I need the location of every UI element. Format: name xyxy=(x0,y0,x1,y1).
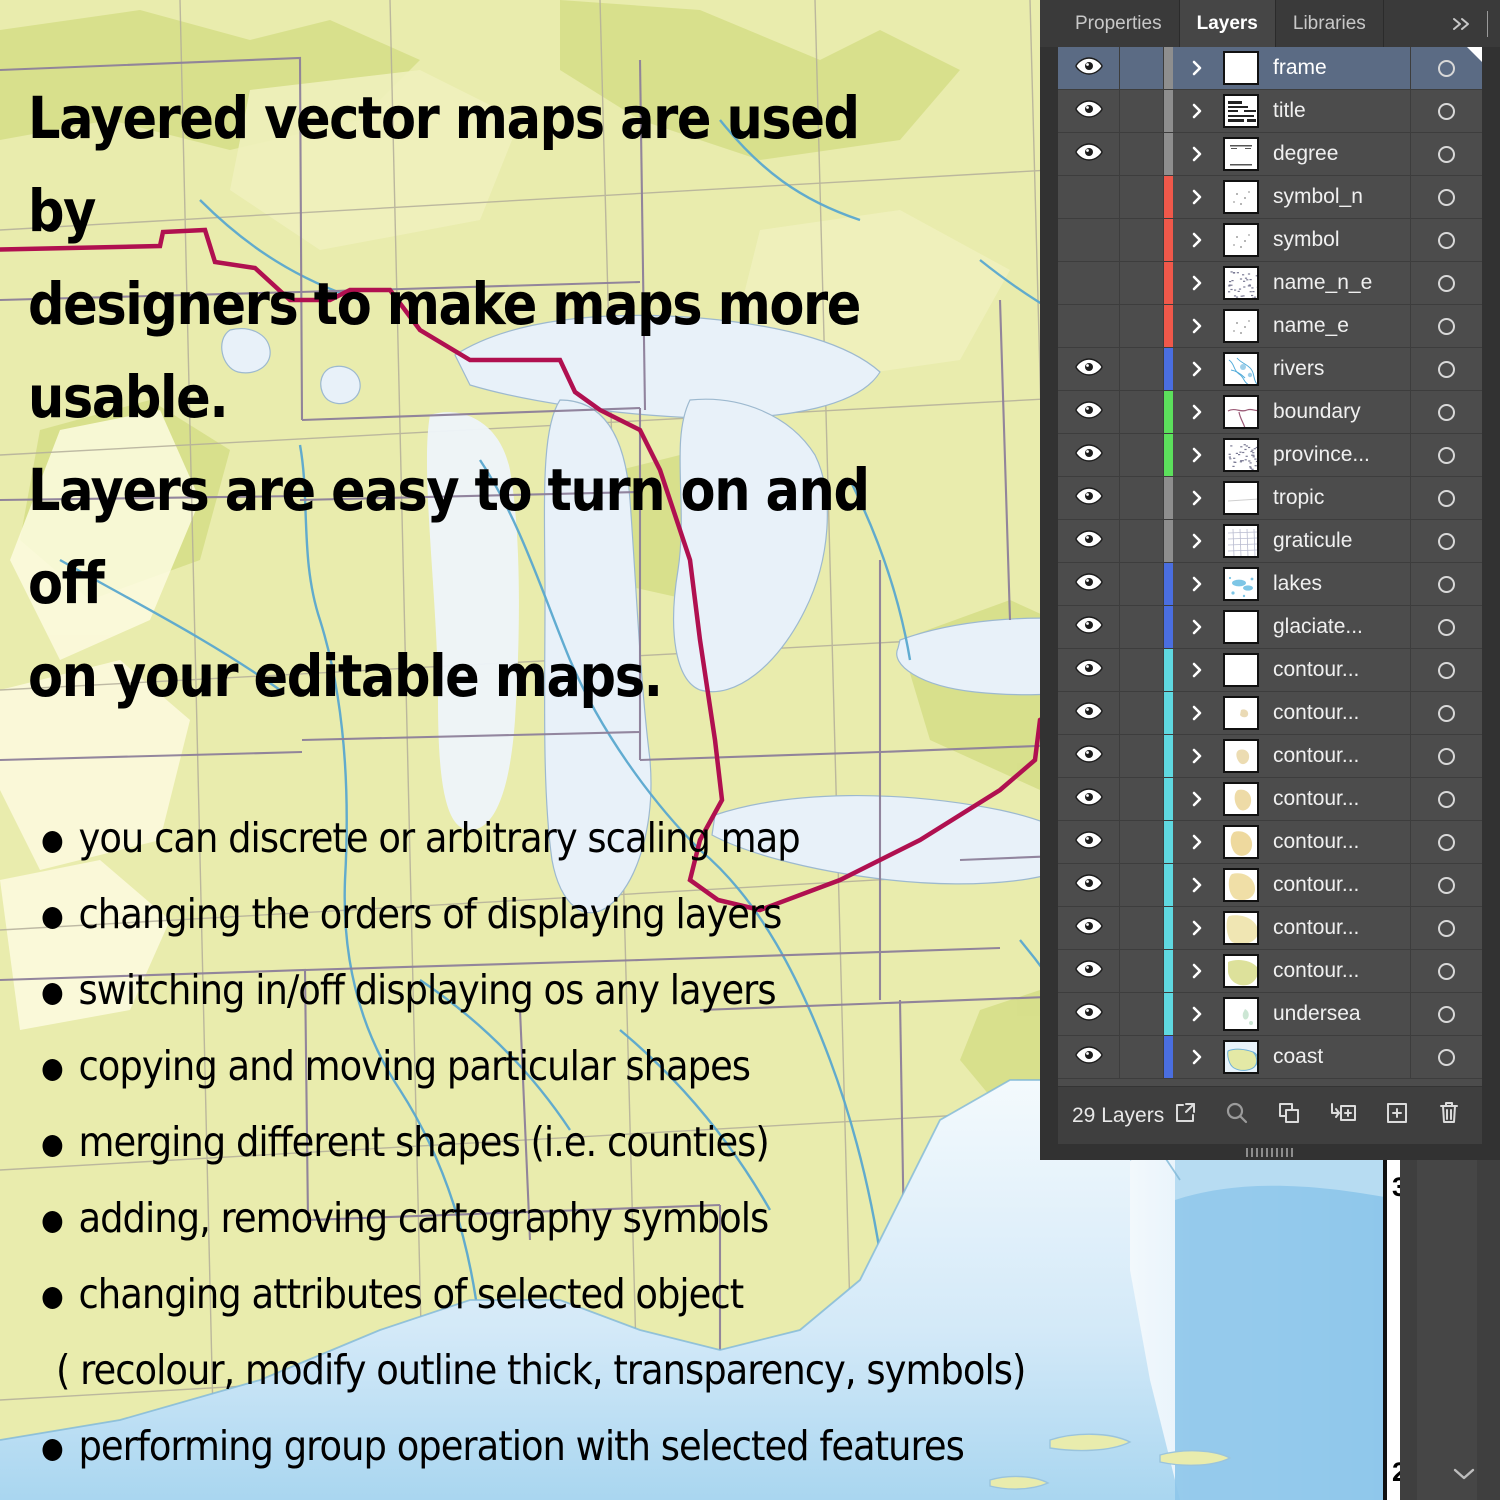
layer-target-circle[interactable] xyxy=(1410,778,1482,820)
layer-row-contour[interactable]: contour... xyxy=(1058,950,1482,993)
layer-name-label: name_n_e xyxy=(1261,271,1410,295)
layer-lock-toggle[interactable] xyxy=(1120,649,1164,691)
bullet-item: changing the orders of displaying layers xyxy=(38,876,1046,952)
chevron-right-icon[interactable] xyxy=(1173,305,1221,347)
layer-row-coast[interactable]: coast xyxy=(1058,1036,1482,1079)
layer-color-strip xyxy=(1164,821,1173,863)
layer-visibility-toggle[interactable] xyxy=(1058,950,1120,992)
chevron-right-icon[interactable] xyxy=(1173,391,1221,433)
layer-row-title[interactable]: title xyxy=(1058,90,1482,133)
chevron-right-icon[interactable] xyxy=(1173,47,1221,89)
layer-color-strip xyxy=(1164,47,1173,89)
layer-visibility-toggle[interactable] xyxy=(1058,864,1120,906)
layer-color-strip xyxy=(1164,219,1173,261)
layer-target-circle[interactable] xyxy=(1410,305,1482,347)
layer-lock-toggle[interactable] xyxy=(1120,821,1164,863)
layer-color-strip xyxy=(1164,692,1173,734)
visibility-eye-icon[interactable] xyxy=(1075,444,1103,467)
layer-name-label: name_e xyxy=(1261,314,1410,338)
layer-thumbnail[interactable] xyxy=(1221,180,1261,214)
duplicate-layer-icon[interactable] xyxy=(1276,1100,1302,1131)
layer-visibility-toggle[interactable] xyxy=(1058,434,1120,476)
layer-visibility-toggle[interactable] xyxy=(1058,219,1120,261)
layer-row-glaciate[interactable]: glaciate... xyxy=(1058,606,1482,649)
chevron-right-icon[interactable] xyxy=(1173,692,1221,734)
layer-thumbnail[interactable] xyxy=(1221,825,1261,859)
layer-lock-toggle[interactable] xyxy=(1120,219,1164,261)
layer-color-strip xyxy=(1164,391,1173,433)
layer-color-strip xyxy=(1164,520,1173,562)
chevron-right-icon[interactable] xyxy=(1173,563,1221,605)
layer-name-label: province... xyxy=(1261,443,1410,467)
chevron-right-icon[interactable] xyxy=(1173,262,1221,304)
bullet-item: performing group operation with selected… xyxy=(38,1408,1046,1484)
layer-color-strip xyxy=(1164,864,1173,906)
locate-object-icon[interactable] xyxy=(1172,1100,1198,1131)
chevron-right-icon[interactable] xyxy=(1173,434,1221,476)
layer-target-circle[interactable] xyxy=(1410,434,1482,476)
layer-lock-toggle[interactable] xyxy=(1120,1036,1164,1078)
layer-target-circle[interactable] xyxy=(1410,692,1482,734)
layer-target-circle[interactable] xyxy=(1410,262,1482,304)
layer-target-circle[interactable] xyxy=(1410,477,1482,519)
chevron-right-icon[interactable] xyxy=(1173,735,1221,777)
layer-name-label: glaciate... xyxy=(1261,615,1410,639)
layer-name-label: symbol xyxy=(1261,228,1410,252)
layer-name-label: contour... xyxy=(1261,830,1410,854)
double-chevron-right-icon[interactable] xyxy=(1437,0,1487,47)
chevron-right-icon[interactable] xyxy=(1173,176,1221,218)
layer-color-strip xyxy=(1164,950,1173,992)
layer-name-label: frame xyxy=(1261,56,1410,80)
layer-count-label: 29 Layers xyxy=(1072,1104,1164,1128)
headline-text: Layered vector maps are used by designer… xyxy=(28,72,917,723)
layer-visibility-toggle[interactable] xyxy=(1058,90,1120,132)
chevron-right-icon[interactable] xyxy=(1173,993,1221,1035)
layer-row-contour[interactable]: contour... xyxy=(1058,864,1482,907)
layer-target-circle[interactable] xyxy=(1410,864,1482,906)
layer-target-circle[interactable] xyxy=(1410,176,1482,218)
new-sublayer-icon[interactable] xyxy=(1328,1100,1358,1131)
visibility-eye-icon[interactable] xyxy=(1075,143,1103,166)
layer-thumbnail[interactable] xyxy=(1221,94,1261,128)
layer-target-circle[interactable] xyxy=(1410,133,1482,175)
layer-target-circle[interactable] xyxy=(1410,520,1482,562)
layer-name-label: degree xyxy=(1261,142,1410,166)
layer-color-strip xyxy=(1164,434,1173,476)
layer-visibility-toggle[interactable] xyxy=(1058,649,1120,691)
visibility-eye-icon[interactable] xyxy=(1075,745,1103,768)
layer-target-circle[interactable] xyxy=(1410,950,1482,992)
layer-target-circle[interactable] xyxy=(1410,993,1482,1035)
new-layer-icon[interactable] xyxy=(1384,1100,1410,1131)
layer-color-strip xyxy=(1164,262,1173,304)
layer-lock-toggle[interactable] xyxy=(1120,262,1164,304)
layer-target-circle[interactable] xyxy=(1410,907,1482,949)
delete-layer-icon[interactable] xyxy=(1436,1100,1462,1131)
layer-visibility-toggle[interactable] xyxy=(1058,477,1120,519)
layer-name-label: contour... xyxy=(1261,658,1410,682)
layer-lock-toggle[interactable] xyxy=(1120,305,1164,347)
layer-visibility-toggle[interactable] xyxy=(1058,606,1120,648)
visibility-eye-icon[interactable] xyxy=(1075,358,1103,381)
layer-visibility-toggle[interactable] xyxy=(1058,47,1120,89)
layer-visibility-toggle[interactable] xyxy=(1058,692,1120,734)
layer-lock-toggle[interactable] xyxy=(1120,778,1164,820)
layer-visibility-toggle[interactable] xyxy=(1058,735,1120,777)
layer-target-circle[interactable] xyxy=(1410,1036,1482,1078)
visibility-eye-icon[interactable] xyxy=(1075,401,1103,424)
layer-target-circle[interactable] xyxy=(1410,563,1482,605)
layer-row-name_e[interactable]: name_e xyxy=(1058,305,1482,348)
layer-row-tropic[interactable]: tropic xyxy=(1058,477,1482,520)
chevron-right-icon[interactable] xyxy=(1173,348,1221,390)
layer-thumbnail[interactable] xyxy=(1221,997,1261,1031)
layer-thumbnail[interactable] xyxy=(1221,223,1261,257)
visibility-eye-icon[interactable] xyxy=(1075,659,1103,682)
layer-row-symbol[interactable]: symbol xyxy=(1058,219,1482,262)
tab-libraries-label: Libraries xyxy=(1293,13,1366,35)
bullet-item: ( recolour, modify outline thick, transp… xyxy=(38,1332,1046,1408)
layer-color-strip xyxy=(1164,176,1173,218)
layer-lock-toggle[interactable] xyxy=(1120,348,1164,390)
latitude-label-25: 25 xyxy=(1392,1457,1400,1488)
layer-name-label: graticule xyxy=(1261,529,1410,553)
chevron-right-icon[interactable] xyxy=(1173,606,1221,648)
bullet-item: switching in/off displaying os any layer… xyxy=(38,952,1046,1028)
bullet-item: you can discrete or arbitrary scaling ma… xyxy=(38,800,1046,876)
layers-panel[interactable]: Properties Layers Libraries frametitlede… xyxy=(1040,0,1500,1160)
layer-visibility-toggle[interactable] xyxy=(1058,133,1120,175)
layer-name-label: lakes xyxy=(1261,572,1410,596)
layer-target-circle[interactable] xyxy=(1410,606,1482,648)
bullet-item: copying and moving particular shapes xyxy=(38,1028,1046,1104)
layer-row-contour[interactable]: contour... xyxy=(1058,821,1482,864)
chevron-right-icon[interactable] xyxy=(1173,907,1221,949)
layer-lock-toggle[interactable] xyxy=(1120,864,1164,906)
layer-thumbnail[interactable] xyxy=(1221,610,1261,644)
layer-lock-toggle[interactable] xyxy=(1120,90,1164,132)
chevron-right-icon[interactable] xyxy=(1173,950,1221,992)
layer-color-strip xyxy=(1164,649,1173,691)
visibility-eye-icon[interactable] xyxy=(1075,788,1103,811)
layer-thumbnail[interactable] xyxy=(1221,266,1261,300)
visibility-eye-icon[interactable] xyxy=(1075,487,1103,510)
layer-lock-toggle[interactable] xyxy=(1120,391,1164,433)
visibility-eye-icon[interactable] xyxy=(1075,573,1103,596)
visibility-eye-icon[interactable] xyxy=(1075,917,1103,940)
layer-thumbnail[interactable] xyxy=(1221,51,1261,85)
visibility-eye-icon[interactable] xyxy=(1075,100,1103,123)
layer-color-strip xyxy=(1164,907,1173,949)
layer-color-strip xyxy=(1164,778,1173,820)
layers-panel-footer[interactable]: 29 Layers xyxy=(1058,1086,1482,1144)
bullet-item: merging different shapes (i.e. counties) xyxy=(38,1104,1046,1180)
layer-thumbnail[interactable] xyxy=(1221,696,1261,730)
layer-target-circle[interactable] xyxy=(1410,821,1482,863)
bullet-item: adding, removing cartography symbols xyxy=(38,1180,1046,1256)
layer-name-label: contour... xyxy=(1261,873,1410,897)
layer-name-label: tropic xyxy=(1261,486,1410,510)
chevron-right-icon[interactable] xyxy=(1173,520,1221,562)
visibility-eye-icon[interactable] xyxy=(1075,530,1103,553)
layer-name-label: title xyxy=(1261,99,1410,123)
latitude-label-30: 30 xyxy=(1392,1172,1400,1203)
chevron-down-icon[interactable] xyxy=(1450,1465,1478,1488)
layer-name-label: contour... xyxy=(1261,701,1410,725)
layer-name-label: contour... xyxy=(1261,916,1410,940)
layer-row-symbol_n[interactable]: symbol_n xyxy=(1058,176,1482,219)
layer-thumbnail[interactable] xyxy=(1221,911,1261,945)
selection-corner-marker xyxy=(1467,47,1482,62)
layer-visibility-toggle[interactable] xyxy=(1058,520,1120,562)
layer-name-label: contour... xyxy=(1261,744,1410,768)
layer-name-label: rivers xyxy=(1261,357,1410,381)
layer-row-frame[interactable]: frame xyxy=(1058,47,1482,90)
layer-visibility-toggle[interactable] xyxy=(1058,907,1120,949)
layer-visibility-toggle[interactable] xyxy=(1058,778,1120,820)
layer-thumbnail[interactable] xyxy=(1221,524,1261,558)
layer-target-circle[interactable] xyxy=(1410,348,1482,390)
layer-thumbnail[interactable] xyxy=(1221,567,1261,601)
layer-target-circle[interactable] xyxy=(1410,90,1482,132)
layer-visibility-toggle[interactable] xyxy=(1058,821,1120,863)
layer-lock-toggle[interactable] xyxy=(1120,520,1164,562)
chevron-right-icon[interactable] xyxy=(1173,90,1221,132)
layer-thumbnail[interactable] xyxy=(1221,782,1261,816)
tab-libraries[interactable]: Libraries xyxy=(1276,0,1384,47)
layer-thumbnail[interactable] xyxy=(1221,739,1261,773)
layer-lock-toggle[interactable] xyxy=(1120,434,1164,476)
layer-lock-toggle[interactable] xyxy=(1120,950,1164,992)
layer-thumbnail[interactable] xyxy=(1221,481,1261,515)
chevron-right-icon[interactable] xyxy=(1173,1036,1221,1078)
screenshot-root: 30 25 Layered vector maps are used by de… xyxy=(0,0,1500,1500)
layer-lock-toggle[interactable] xyxy=(1120,606,1164,648)
layer-thumbnail[interactable] xyxy=(1221,137,1261,171)
layer-lock-toggle[interactable] xyxy=(1120,563,1164,605)
layer-visibility-toggle[interactable] xyxy=(1058,1036,1120,1078)
tab-bar-divider xyxy=(1487,11,1488,37)
chevron-right-icon[interactable] xyxy=(1173,133,1221,175)
layer-thumbnail[interactable] xyxy=(1221,309,1261,343)
tab-layers[interactable]: Layers xyxy=(1180,0,1276,47)
layer-target-circle[interactable] xyxy=(1410,649,1482,691)
panel-tab-bar[interactable]: Properties Layers Libraries xyxy=(1040,0,1500,47)
layer-color-strip xyxy=(1164,90,1173,132)
layer-name-label: contour... xyxy=(1261,787,1410,811)
layer-row-contour[interactable]: contour... xyxy=(1058,735,1482,778)
layer-visibility-toggle[interactable] xyxy=(1058,262,1120,304)
visibility-eye-icon[interactable] xyxy=(1075,616,1103,639)
layer-visibility-toggle[interactable] xyxy=(1058,391,1120,433)
tab-properties[interactable]: Properties xyxy=(1058,0,1180,47)
layer-visibility-toggle[interactable] xyxy=(1058,993,1120,1035)
chevron-right-icon[interactable] xyxy=(1173,477,1221,519)
layer-lock-toggle[interactable] xyxy=(1120,907,1164,949)
visibility-eye-icon[interactable] xyxy=(1075,57,1103,80)
layer-color-strip xyxy=(1164,563,1173,605)
panel-resize-grip[interactable] xyxy=(1040,1144,1500,1160)
layer-visibility-toggle[interactable] xyxy=(1058,305,1120,347)
visibility-eye-icon[interactable] xyxy=(1075,702,1103,725)
workspace-right-gutter-inner xyxy=(1417,1160,1477,1500)
layer-thumbnail[interactable] xyxy=(1221,438,1261,472)
tab-layers-label: Layers xyxy=(1197,13,1258,35)
layer-name-label: coast xyxy=(1261,1045,1410,1069)
layer-row-contour[interactable]: contour... xyxy=(1058,692,1482,735)
layer-row-name_n_e[interactable]: name_n_e xyxy=(1058,262,1482,305)
grip-lines-icon xyxy=(1246,1148,1294,1157)
bullet-item: changing attributes of selected object xyxy=(38,1256,1046,1332)
visibility-eye-icon[interactable] xyxy=(1075,874,1103,897)
layer-row-graticule[interactable]: graticule xyxy=(1058,520,1482,563)
chevron-right-icon[interactable] xyxy=(1173,219,1221,261)
layer-color-strip xyxy=(1164,606,1173,648)
layer-color-strip xyxy=(1164,735,1173,777)
layer-row-contour[interactable]: contour... xyxy=(1058,907,1482,950)
layer-color-strip xyxy=(1164,305,1173,347)
visibility-eye-icon[interactable] xyxy=(1075,1003,1103,1026)
layer-row-province[interactable]: province... xyxy=(1058,434,1482,477)
layer-footer-actions[interactable] xyxy=(1172,1100,1468,1131)
layer-name-label: contour... xyxy=(1261,959,1410,983)
layer-target-circle[interactable] xyxy=(1410,219,1482,261)
layer-visibility-toggle[interactable] xyxy=(1058,563,1120,605)
chevron-right-icon[interactable] xyxy=(1173,864,1221,906)
layer-row-lakes[interactable]: lakes xyxy=(1058,563,1482,606)
layer-list[interactable]: frametitledegreesymbol_nsymbolname_n_ena… xyxy=(1058,47,1482,1086)
layer-color-strip xyxy=(1164,477,1173,519)
layer-row-boundary[interactable]: boundary xyxy=(1058,391,1482,434)
layer-lock-toggle[interactable] xyxy=(1120,735,1164,777)
layer-name-label: boundary xyxy=(1261,400,1410,424)
layer-name-label: undersea xyxy=(1261,1002,1410,1026)
chevron-right-icon[interactable] xyxy=(1173,778,1221,820)
layer-row-contour[interactable]: contour... xyxy=(1058,778,1482,821)
chevron-right-icon[interactable] xyxy=(1173,649,1221,691)
visibility-eye-icon[interactable] xyxy=(1075,831,1103,854)
layer-thumbnail[interactable] xyxy=(1221,868,1261,902)
visibility-eye-icon[interactable] xyxy=(1075,960,1103,983)
layer-color-strip xyxy=(1164,348,1173,390)
layer-color-strip xyxy=(1164,993,1173,1035)
layer-target-circle[interactable] xyxy=(1410,391,1482,433)
feature-bullet-list: you can discrete or arbitrary scaling ma… xyxy=(38,800,1158,1484)
layer-row-undersea[interactable]: undersea xyxy=(1058,993,1482,1036)
tab-properties-label: Properties xyxy=(1075,13,1162,35)
layer-lock-toggle[interactable] xyxy=(1120,692,1164,734)
visibility-eye-icon[interactable] xyxy=(1075,1046,1103,1069)
layer-visibility-toggle[interactable] xyxy=(1058,348,1120,390)
layer-lock-toggle[interactable] xyxy=(1120,47,1164,89)
layer-thumbnail[interactable] xyxy=(1221,954,1261,988)
chevron-right-icon[interactable] xyxy=(1173,821,1221,863)
layer-lock-toggle[interactable] xyxy=(1120,993,1164,1035)
layer-visibility-toggle[interactable] xyxy=(1058,176,1120,218)
layer-color-strip xyxy=(1164,133,1173,175)
layer-lock-toggle[interactable] xyxy=(1120,133,1164,175)
layer-row-degree[interactable]: degree xyxy=(1058,133,1482,176)
layer-thumbnail[interactable] xyxy=(1221,1040,1261,1074)
search-icon[interactable] xyxy=(1224,1100,1250,1131)
layer-target-circle[interactable] xyxy=(1410,735,1482,777)
layer-row-contour[interactable]: contour... xyxy=(1058,649,1482,692)
layer-name-label: symbol_n xyxy=(1261,185,1410,209)
layer-color-strip xyxy=(1164,1036,1173,1078)
layer-thumbnail[interactable] xyxy=(1221,653,1261,687)
layer-thumbnail[interactable] xyxy=(1221,395,1261,429)
layer-lock-toggle[interactable] xyxy=(1120,477,1164,519)
layer-lock-toggle[interactable] xyxy=(1120,176,1164,218)
layer-thumbnail[interactable] xyxy=(1221,352,1261,386)
layer-row-rivers[interactable]: rivers xyxy=(1058,348,1482,391)
